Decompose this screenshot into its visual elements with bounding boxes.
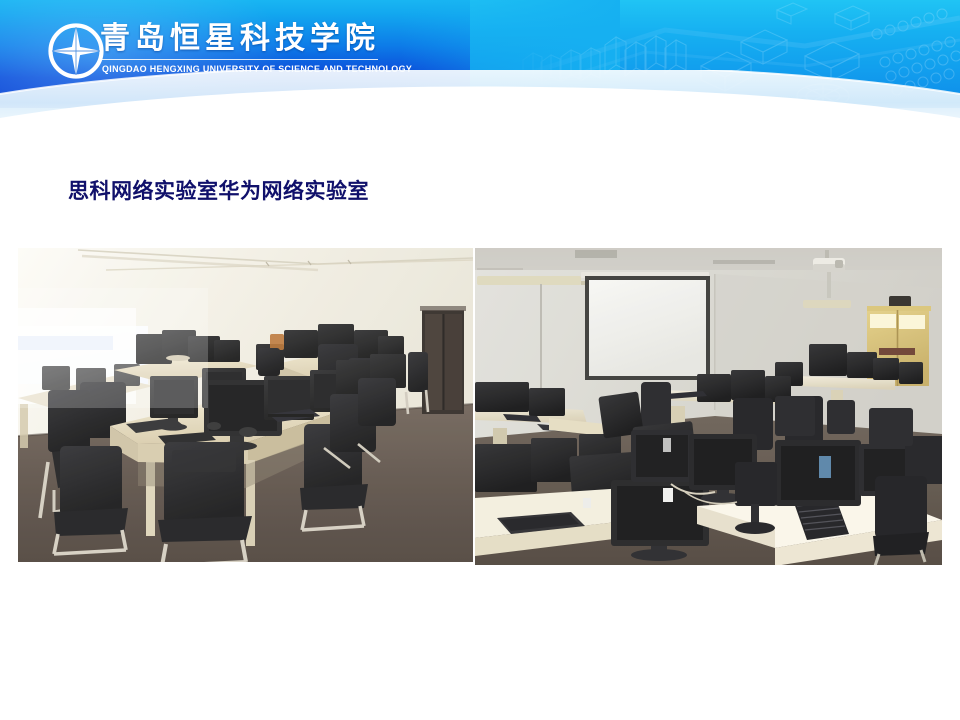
university-name-divider — [102, 59, 378, 60]
banner-wave-decoration — [0, 70, 960, 140]
university-name-cn: 青岛恒星科技学院 — [100, 22, 386, 58]
presentation-slide: 青岛恒星科技学院 QINGDAO HENGXING UNIVERSITY OF … — [0, 0, 960, 720]
page-title: 思科网络实验室华为网络实验室 — [68, 178, 369, 204]
huawei-network-lab-photo — [475, 248, 942, 565]
cisco-network-lab-photo — [18, 248, 473, 562]
slide-header-banner: 青岛恒星科技学院 QINGDAO HENGXING UNIVERSITY OF … — [0, 0, 960, 140]
